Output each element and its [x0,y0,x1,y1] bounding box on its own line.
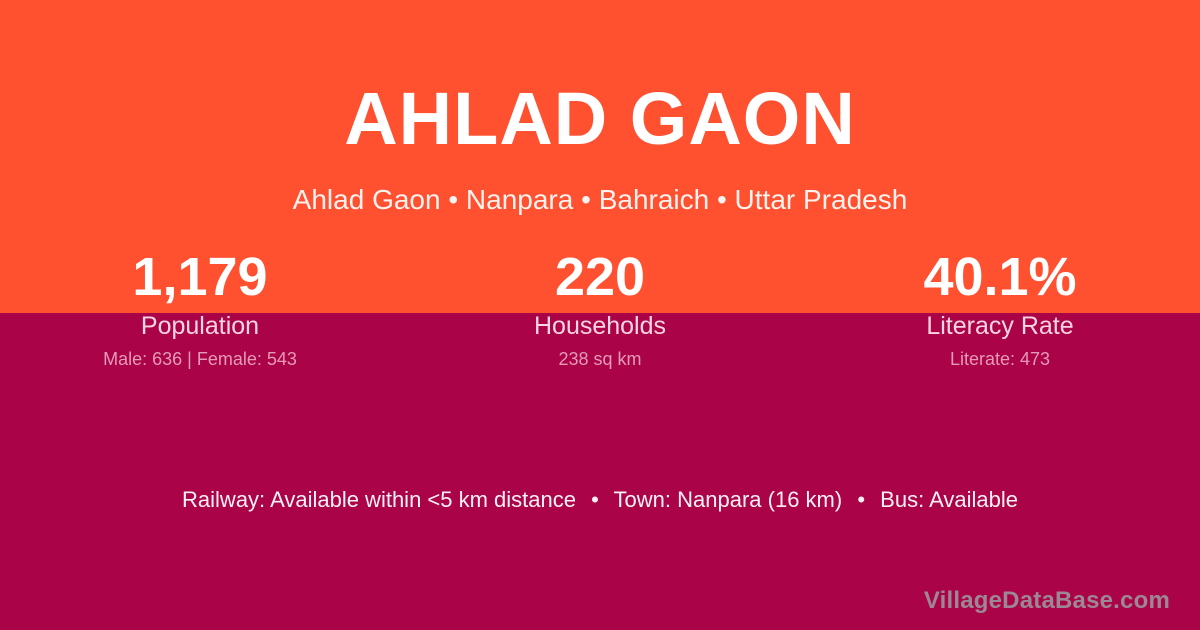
breadcrumb: Ahlad Gaon • Nanpara • Bahraich • Uttar … [0,186,1200,214]
village-info-card: AHLAD GAON Ahlad Gaon • Nanpara • Bahrai… [0,0,1200,630]
stat-value: 40.1% [800,248,1200,306]
site-watermark: VillageDataBase.com [924,586,1170,616]
stat-sublabel: Male: 636 | Female: 543 [0,349,400,369]
stat-label: Households [400,312,800,340]
stat-population: 1,179 Population Male: 636 | Female: 543 [0,248,400,369]
bullet-separator-icon: • [848,487,874,512]
stat-value: 1,179 [0,248,400,306]
stat-sublabel: Literate: 473 [800,349,1200,369]
stat-households: 220 Households 238 sq km [400,248,800,369]
amenity-railway: Railway: Available within <5 km distance [182,487,576,512]
amenity-town: Town: Nanpara (16 km) [614,487,843,512]
page-title: AHLAD GAON [0,82,1200,156]
stat-sublabel: 238 sq km [400,349,800,369]
stat-value: 220 [400,248,800,306]
amenity-bus: Bus: Available [880,487,1018,512]
stats-row: 1,179 Population Male: 636 | Female: 543… [0,248,1200,369]
stat-literacy-rate: 40.1% Literacy Rate Literate: 473 [800,248,1200,369]
bullet-separator-icon: • [582,487,608,512]
hero-section: AHLAD GAON Ahlad Gaon • Nanpara • Bahrai… [0,0,1200,214]
stat-label: Population [0,312,400,340]
amenities-line: Railway: Available within <5 km distance… [0,487,1200,513]
stat-label: Literacy Rate [800,312,1200,340]
